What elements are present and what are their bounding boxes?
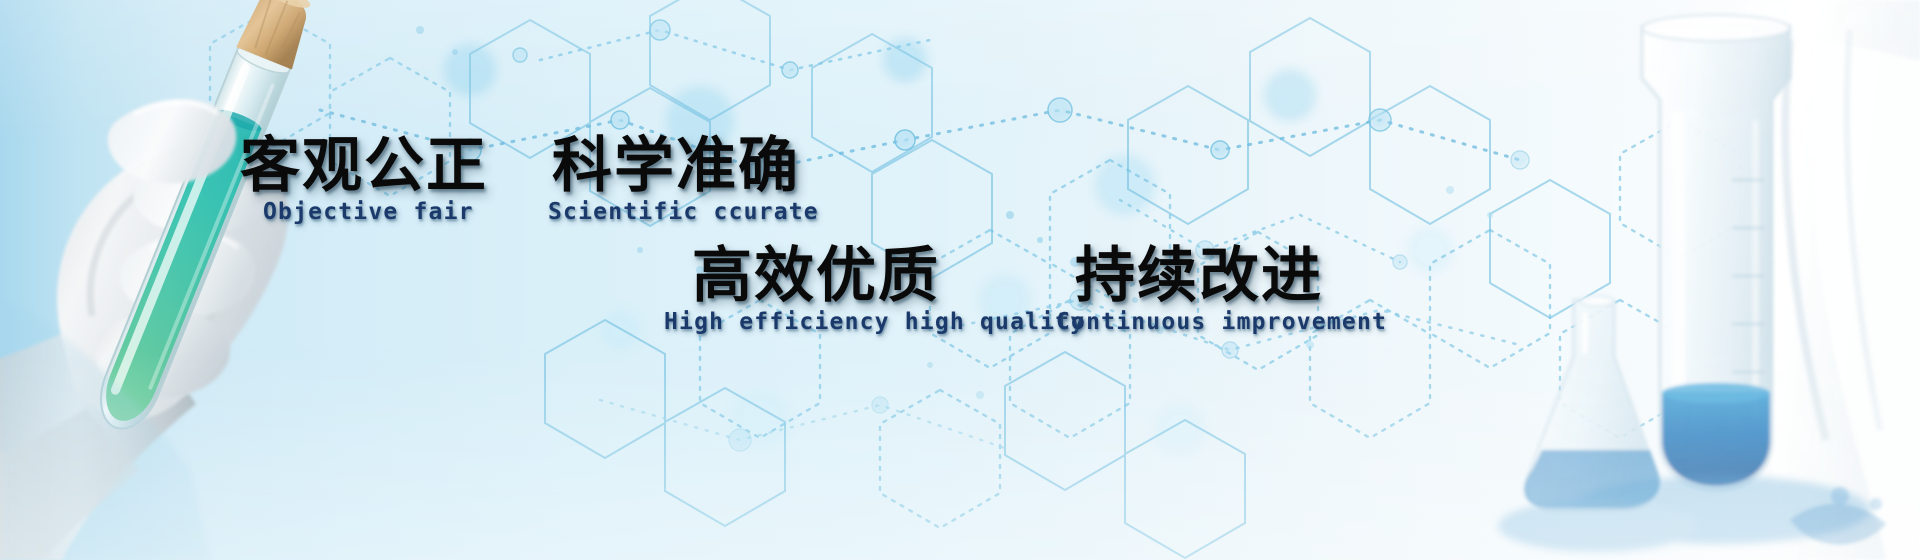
- molecule-nodes: [459, 20, 1529, 451]
- test-tube: [87, 0, 319, 439]
- conical-flask: [1524, 296, 1660, 510]
- tall-beaker: [1642, 15, 1790, 490]
- cork-stopper: [236, 0, 319, 70]
- slogan-english-scientific-accurate: Scientific ccurate: [548, 201, 819, 224]
- blue-splash: [1790, 487, 1886, 545]
- speckle-dust: [416, 26, 1493, 399]
- gloved-hand-holding-test-tube: [0, 0, 430, 560]
- background-blobs: [444, 38, 1454, 456]
- slogan-chinese-objective-fair: 客观公正: [240, 136, 488, 196]
- slogan-text-group: 客观公正 Objective fair 科学准确 Scientific ccur…: [0, 0, 1920, 560]
- molecule-connectors: [320, 30, 1520, 450]
- slogan-chinese-high-efficiency: 高效优质: [692, 246, 940, 306]
- lab-beaker-and-coat: [1320, 0, 1920, 560]
- slogan-english-high-efficiency: High efficiency high quality: [664, 311, 1085, 334]
- molecular-hexagon-network: [0, 0, 1920, 560]
- slogan-chinese-continuous-improvement: 持续改进: [1075, 246, 1323, 306]
- slogan-chinese-scientific-accurate: 科学准确: [552, 136, 800, 196]
- hexagon-solid-group: [470, 0, 1610, 558]
- sheen-overlay: [0, 0, 1920, 560]
- laboratory-slogan-banner: 客观公正 Objective fair 科学准确 Scientific ccur…: [0, 0, 1920, 560]
- slogan-english-objective-fair: Objective fair: [263, 201, 474, 224]
- hexagon-dotted-group: [210, 10, 1740, 528]
- slogan-english-continuous-improvement: Continuous improvement: [1056, 311, 1387, 334]
